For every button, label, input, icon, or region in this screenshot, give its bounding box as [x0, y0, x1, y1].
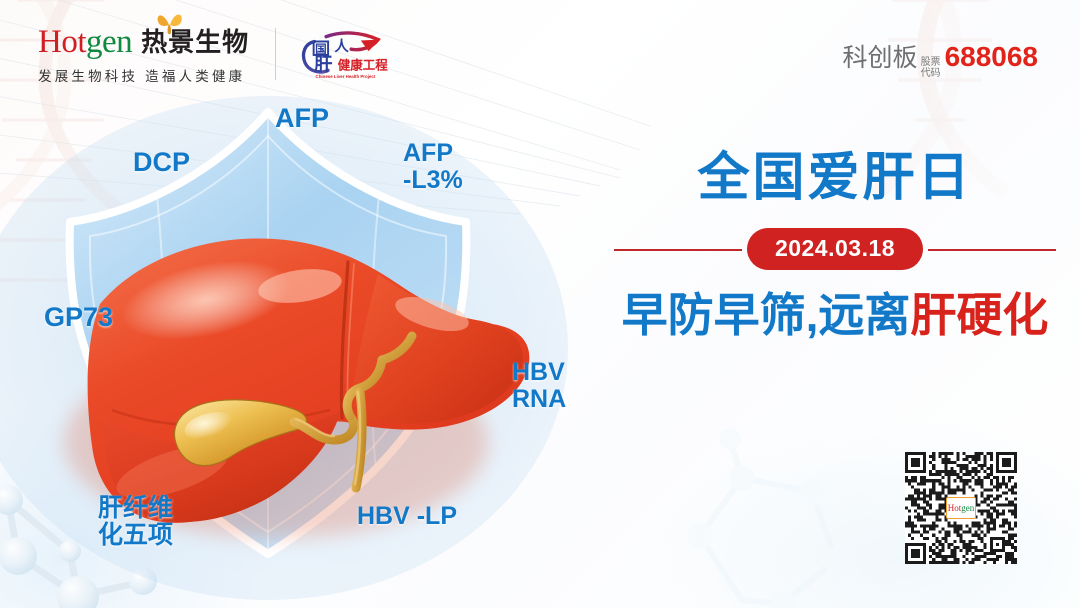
logo-char-rest: 健康工程 — [338, 57, 389, 72]
stock-listing-info: 科创板 股票 代码 688068 — [843, 38, 1038, 80]
page-title: 全国爱肝日 — [600, 150, 1070, 207]
event-date-row: 2024.03.18 — [600, 229, 1070, 269]
poster-header: Hotgen 热景生物 发展生物科技 造福人类健康 — [0, 0, 1080, 100]
stock-code-caption: 股票 代码 — [921, 57, 941, 79]
marker-label-dcp: DCP — [133, 148, 190, 177]
stock-caption-line1: 股票 — [921, 57, 941, 68]
campaign-slogan: 早防早筛,远离肝硬化 — [600, 289, 1070, 342]
hotgen-gen-text: gen — [86, 24, 132, 60]
poster-canvas: Hotgen 热景生物 发展生物科技 造福人类健康 — [0, 0, 1080, 608]
marker-label-fibrosis: 肝纤维 化五项 — [98, 495, 173, 548]
qr-logo-gen: gen — [961, 504, 974, 513]
marker-label-hbv-rna: HBV RNA — [512, 359, 566, 412]
stock-market-label: 科创板 — [843, 38, 918, 74]
marker-label-gp73: GP73 — [44, 303, 113, 332]
marker-label-afp-l3: AFP -L3% — [403, 140, 463, 193]
qr-code[interactable]: Hotgen — [905, 452, 1017, 564]
logo-char-gan: 肝 — [314, 54, 332, 75]
logo-subtitle-en: Chinese Liver Health Project — [316, 74, 376, 79]
chinese-liver-health-project-logo: 国 人 肝 健康工程 Chinese Liver Health Project — [296, 28, 391, 80]
stock-code-value: 688068 — [945, 41, 1038, 73]
date-rule-left — [614, 249, 742, 251]
slogan-part-red: 肝硬化 — [910, 289, 1048, 341]
marker-label-hbv-lp: HBV -LP — [357, 503, 457, 530]
campaign-panel: 全国爱肝日 2024.03.18 早防早筛,远离肝硬化 — [600, 150, 1070, 430]
hotgen-wordmark: Hotgen — [38, 26, 132, 59]
qr-logo-hot: Hot — [948, 504, 962, 513]
hotgen-tagline: 发展生物科技 造福人类健康 — [38, 65, 249, 85]
stock-caption-line2: 代码 — [921, 68, 941, 79]
liver-shield-artwork — [0, 92, 620, 592]
slogan-part-blue: 早防早筛,远离 — [622, 289, 911, 341]
hotgen-hot-text: Hot — [38, 24, 86, 60]
marker-label-afp: AFP — [275, 104, 329, 133]
molecule-bottomright-decoration — [687, 428, 849, 608]
butterfly-icon — [156, 10, 184, 36]
logo-divider — [275, 28, 276, 80]
event-date-badge: 2024.03.18 — [747, 228, 923, 270]
logo-char-ren: 人 — [335, 38, 350, 55]
qr-center-logo: Hotgen — [946, 497, 976, 519]
brand-logo-group: Hotgen 热景生物 发展生物科技 造福人类健康 — [38, 22, 391, 85]
hotgen-logo: Hotgen 热景生物 发展生物科技 造福人类健康 — [38, 22, 249, 85]
date-rule-right — [928, 249, 1056, 251]
